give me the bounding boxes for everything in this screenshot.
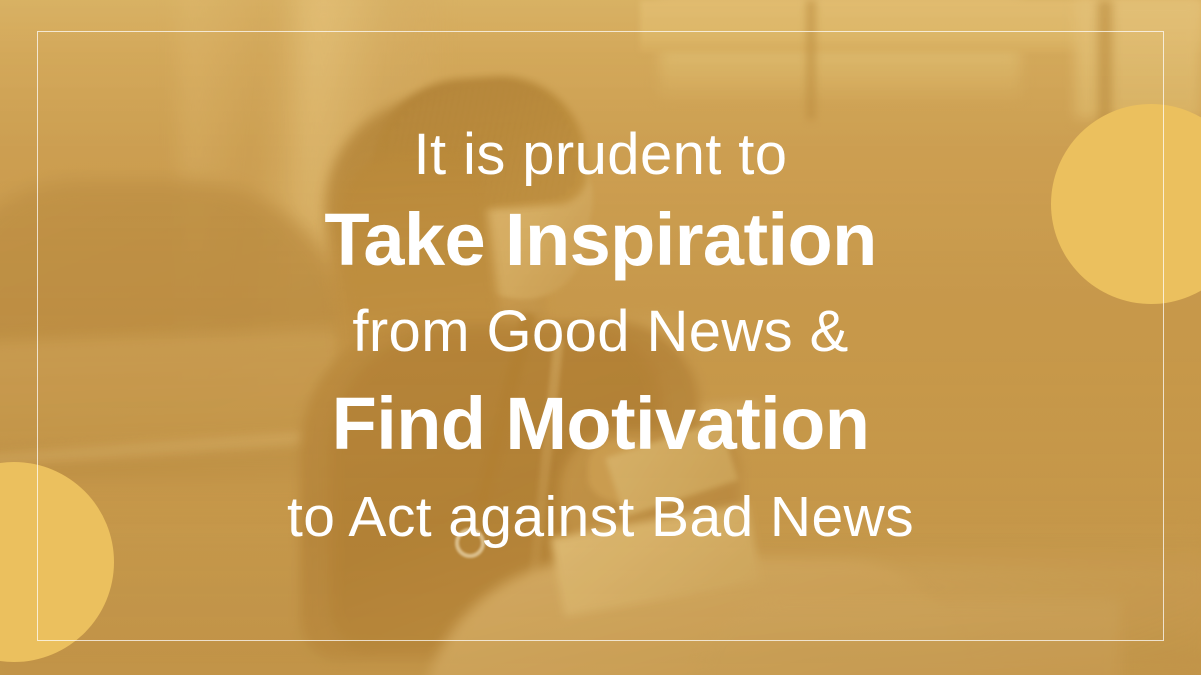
headline-line-5: to Act against Bad News [0, 473, 1201, 561]
headline: It is prudent to Take Inspiration from G… [0, 119, 1201, 561]
promo-banner: It is prudent to Take Inspiration from G… [0, 0, 1201, 675]
headline-line-2: Take Inspiration [0, 191, 1201, 289]
headline-line-1: It is prudent to [0, 119, 1201, 191]
headline-line-4: Find Motivation [0, 375, 1201, 473]
headline-line-3: from Good News & [0, 289, 1201, 375]
